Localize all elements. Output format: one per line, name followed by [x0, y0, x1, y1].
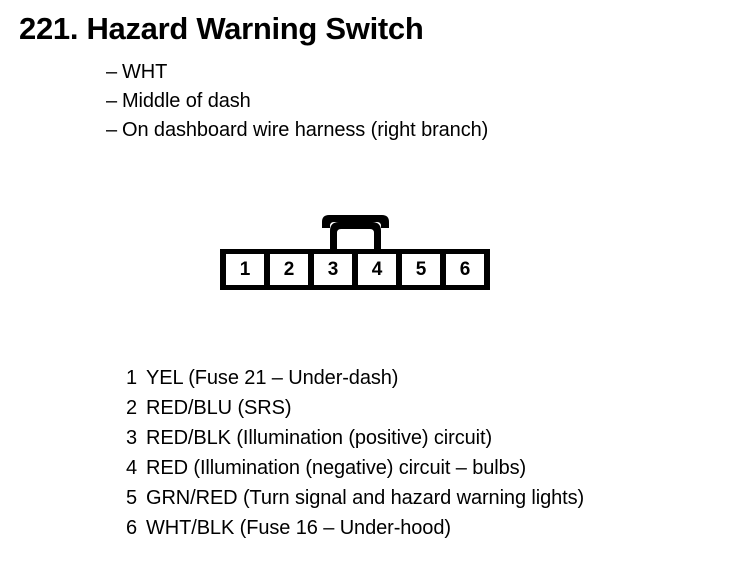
legend-pin-description: RED/BLU (SRS) — [146, 397, 291, 419]
legend-pin-number: 2 — [126, 393, 146, 423]
page-title: 221. Hazard Warning Switch — [19, 10, 423, 48]
detail-line-harness: –On dashboard wire harness (right branch… — [106, 116, 488, 145]
legend-pin-description: YEL (Fuse 21 – Under-dash) — [146, 367, 398, 389]
legend-row: 2RED/BLU (SRS) — [126, 393, 584, 423]
detail-line-label: WHT — [122, 61, 167, 83]
connector-detail-list: –WHT –Middle of dash –On dashboard wire … — [106, 58, 488, 145]
connector-pin-4: 4 — [358, 254, 396, 285]
legend-pin-number: 6 — [126, 513, 146, 543]
connector-pin-row: 1 2 3 4 5 6 — [220, 249, 490, 290]
legend-row: 4RED (Illumination (negative) circuit – … — [126, 453, 584, 483]
dash-bullet-icon: – — [106, 87, 122, 116]
connector-locking-tab-icon — [320, 214, 391, 252]
connector-pin-2: 2 — [270, 254, 308, 285]
detail-line-label: On dashboard wire harness (right branch) — [122, 119, 488, 141]
connector-pin-3: 3 — [314, 254, 352, 285]
legend-pin-number: 4 — [126, 453, 146, 483]
dash-bullet-icon: – — [106, 58, 122, 87]
connector-pin-6: 6 — [446, 254, 484, 285]
detail-line-location: –Middle of dash — [106, 87, 488, 116]
dash-bullet-icon: – — [106, 116, 122, 145]
connector-pin-1: 1 — [226, 254, 264, 285]
detail-line-wire-color: –WHT — [106, 58, 488, 87]
legend-row: 5GRN/RED (Turn signal and hazard warning… — [126, 483, 584, 513]
legend-pin-description: RED/BLK (Illumination (positive) circuit… — [146, 427, 492, 449]
pin-legend-list: 1YEL (Fuse 21 – Under-dash) 2RED/BLU (SR… — [126, 363, 584, 543]
legend-pin-description: WHT/BLK (Fuse 16 – Under-hood) — [146, 517, 451, 539]
legend-pin-number: 1 — [126, 363, 146, 393]
legend-pin-number: 3 — [126, 423, 146, 453]
legend-row: 1YEL (Fuse 21 – Under-dash) — [126, 363, 584, 393]
legend-pin-description: GRN/RED (Turn signal and hazard warning … — [146, 487, 584, 509]
legend-row: 6WHT/BLK (Fuse 16 – Under-hood) — [126, 513, 584, 543]
legend-row: 3RED/BLK (Illumination (positive) circui… — [126, 423, 584, 453]
connector-pin-5: 5 — [402, 254, 440, 285]
legend-pin-number: 5 — [126, 483, 146, 513]
connector-diagram: 1 2 3 4 5 6 — [220, 214, 490, 290]
legend-pin-description: RED (Illumination (negative) circuit – b… — [146, 457, 526, 479]
detail-line-label: Middle of dash — [122, 90, 251, 112]
